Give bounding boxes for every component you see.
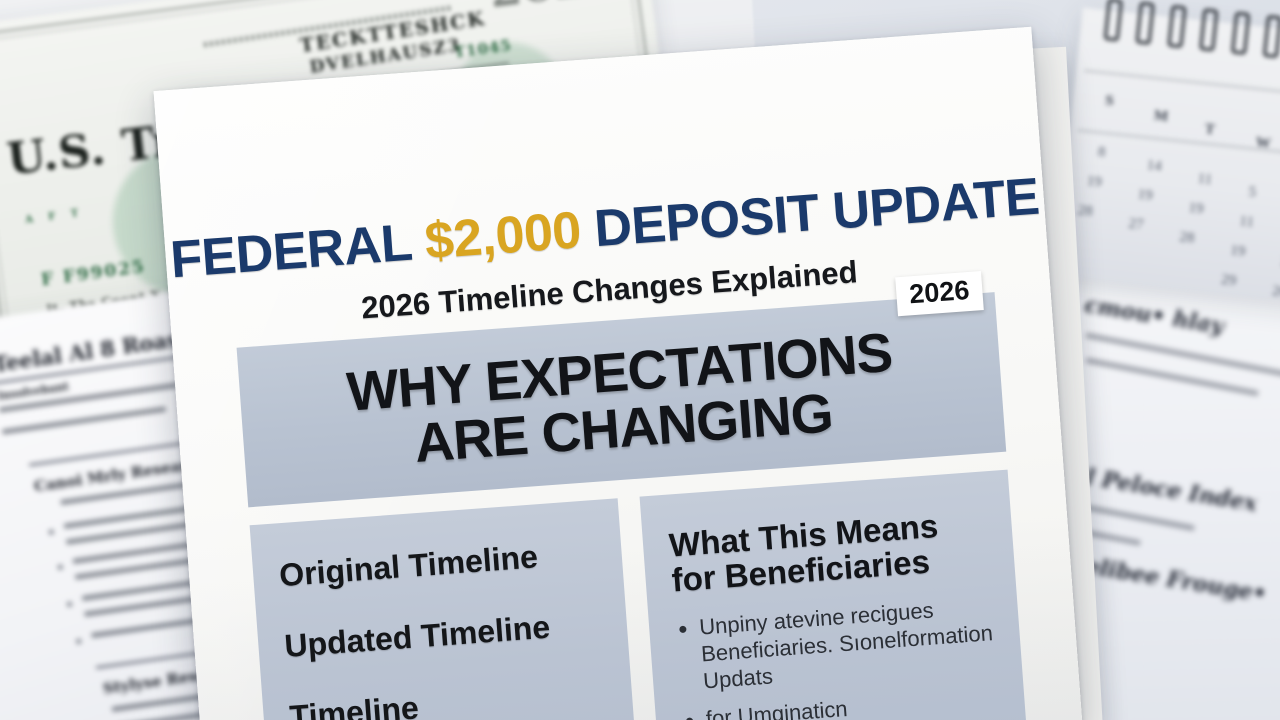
calendar-coil bbox=[1231, 12, 1250, 55]
calendar-coil bbox=[1199, 8, 1218, 51]
headline-amount: $2,000 bbox=[423, 201, 583, 270]
calendar-date: 27 bbox=[1128, 216, 1145, 234]
calendar-coil bbox=[1135, 2, 1154, 45]
left-doc-bullet bbox=[67, 601, 73, 607]
desk-calendar: S M T W T 8 14 11 5 1 19 19 19 11 13 28 … bbox=[1055, 8, 1280, 307]
left-doc-line bbox=[2, 407, 166, 435]
calendar-date: 11 bbox=[1239, 213, 1255, 231]
right-doc-heading-1: cmou• hlay bbox=[1083, 292, 1226, 340]
calendar-date: 28 bbox=[1077, 202, 1094, 220]
year-badge: 2026 bbox=[895, 271, 984, 316]
calendar-date: 28 bbox=[1179, 229, 1196, 247]
calendar-date: 19 bbox=[1137, 186, 1154, 204]
left-doc-bullet bbox=[48, 529, 54, 535]
calendar-date: 29 bbox=[1220, 272, 1237, 290]
panels-row: Original Timeline Updated Timeline Timel… bbox=[250, 470, 1027, 720]
calendar-date: 19 bbox=[1086, 173, 1103, 191]
calendar-day-header: S bbox=[1104, 92, 1114, 110]
calendar-date: 26 bbox=[1271, 283, 1280, 301]
right-doc-heading-3: Pelibee Frouge• bbox=[1068, 551, 1268, 608]
calendar-date: 14 bbox=[1146, 157, 1163, 175]
timeline-panel: Original Timeline Updated Timeline Timel… bbox=[250, 498, 637, 720]
beneficiaries-panel: What This Means for Beneficiaries Unpiny… bbox=[640, 470, 1027, 720]
timeline-item-third: Timeline bbox=[288, 676, 607, 720]
calendar-date: 19 bbox=[1188, 200, 1205, 218]
list-item: Unpiny atevine recigues Beneficiaries. S… bbox=[698, 593, 996, 695]
timeline-item-original: Original Timeline bbox=[278, 534, 597, 594]
calendar-date: 5 bbox=[1248, 184, 1257, 202]
calendar-date: 8 bbox=[1097, 144, 1106, 162]
beneficiaries-heading: What This Means for Beneficiaries bbox=[668, 505, 989, 598]
calendar-date: 19 bbox=[1229, 242, 1246, 260]
calendar-coil bbox=[1104, 0, 1123, 41]
beneficiaries-bullet-list: Unpiny atevine recigues Beneficiaries. S… bbox=[674, 593, 999, 720]
headline-prefix: FEDERAL bbox=[169, 213, 428, 290]
left-doc-bullet bbox=[76, 639, 82, 645]
timeline-item-updated: Updated Timeline bbox=[283, 605, 602, 665]
left-doc-bullet bbox=[57, 564, 63, 570]
flyer-document: FEDERAL $2,000 DEPOSIT UPDATE 2026 Timel… bbox=[154, 27, 1083, 720]
calendar-day-header: T bbox=[1204, 121, 1216, 139]
calendar-day-header: M bbox=[1153, 108, 1169, 126]
calendar-coil bbox=[1167, 5, 1186, 48]
left-doc-line bbox=[84, 595, 204, 617]
scene: U.S. Tread Treasury TECKTTESHCK DVELHAUS… bbox=[0, 0, 1280, 720]
calendar-date: 11 bbox=[1197, 171, 1213, 189]
calendar-rule bbox=[1078, 130, 1280, 160]
calendar-day-header: W bbox=[1255, 134, 1272, 152]
banner-title: WHY EXPECTATIONS ARE CHANGING bbox=[345, 324, 898, 476]
right-doc-line bbox=[1086, 333, 1280, 378]
